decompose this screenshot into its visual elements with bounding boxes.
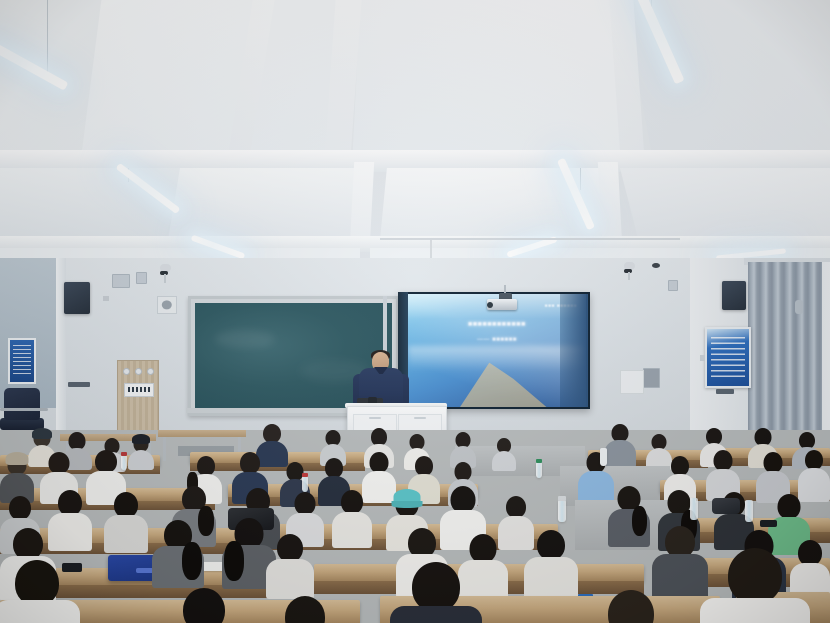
screen-shadow-band: [560, 294, 588, 407]
lecture-hall-photo: ■■■ ■■■■■■ ■■■■■■■■■■■■ —— ■■■■■■: [0, 0, 830, 623]
audience-person: [608, 486, 650, 542]
wall-slot: [68, 382, 90, 387]
bottle-cap: [536, 459, 542, 463]
wall-marking: [103, 296, 109, 301]
ceiling-conduit: [380, 238, 680, 240]
audience-person: [104, 492, 148, 550]
audience-person: [706, 450, 740, 498]
ceiling-coffer: [168, 168, 368, 240]
board-slide-rail: [383, 296, 387, 358]
cap-icon: [132, 434, 150, 444]
audience-person: [0, 455, 34, 497]
electrical-panel: [643, 368, 660, 388]
dome-camera: [652, 263, 660, 268]
backpack: [712, 498, 740, 514]
cap-brim-icon: [392, 501, 423, 508]
ceiling-coffer: [620, 168, 830, 240]
control-knob[interactable]: [123, 368, 130, 375]
slide-title: ■■■■■■■■■■■■: [422, 321, 572, 328]
table-leg: [163, 437, 166, 461]
audience-person: [588, 590, 674, 623]
projector-lens-icon: [487, 302, 493, 308]
ceiling-coffer: [352, 0, 652, 166]
display-text-lines: [711, 337, 745, 379]
ceiling-coffer: [0, 168, 190, 240]
ceiling-conduit: [430, 240, 432, 260]
cap-icon: [32, 428, 52, 439]
audience-person: [450, 432, 476, 464]
light-hanger: [580, 168, 581, 190]
wall-speaker: [64, 282, 90, 314]
left-wall-panel: [0, 258, 58, 408]
wall-slot: [716, 389, 734, 394]
poster-text-lines: [13, 345, 31, 375]
water-bottle: [536, 462, 542, 478]
camera-arm: [628, 272, 630, 280]
office-chair[interactable]: [4, 388, 40, 420]
audience-person: [266, 534, 314, 592]
control-knob[interactable]: [135, 368, 142, 375]
audience-person: [128, 436, 154, 464]
ceiling: [0, 0, 830, 262]
camera-arm: [164, 274, 166, 283]
lectern-handle[interactable]: [414, 417, 426, 419]
wall-vent: [157, 296, 177, 314]
wall-box: [668, 280, 678, 291]
ceiling-beam: [350, 162, 374, 246]
wall-switch[interactable]: [700, 355, 705, 361]
smartphone: [760, 520, 777, 527]
thermos: [600, 448, 607, 466]
wall-control-panel[interactable]: [117, 360, 159, 432]
audience-person: [524, 530, 578, 594]
audience-person: [0, 560, 80, 623]
audience-person: [756, 452, 790, 500]
audience-person: [390, 562, 482, 623]
audience-person: [492, 438, 516, 466]
control-plate[interactable]: [124, 383, 154, 397]
lectern-handle[interactable]: [369, 417, 381, 419]
cap-icon: [6, 452, 29, 465]
ceiling-beam: [598, 162, 622, 246]
audience-person: [152, 520, 204, 580]
audience-person: [268, 596, 342, 623]
water-bottle: [121, 455, 127, 470]
control-switches[interactable]: [128, 387, 150, 392]
slide-subtitle: —— ■■■■■■: [433, 337, 561, 343]
water-bottle: [690, 498, 698, 520]
curtain-tieback: [795, 300, 803, 314]
wall-box: [136, 272, 147, 284]
audience-person: [332, 490, 372, 544]
chair-armrest: [0, 408, 48, 411]
front-table: [158, 430, 246, 437]
water-bottle: [745, 500, 753, 522]
audience-person: [798, 450, 830, 500]
water-bottle: [558, 500, 566, 522]
bottle-cap: [558, 496, 566, 501]
wall-poster: [8, 338, 36, 384]
control-knob[interactable]: [147, 368, 154, 375]
wall-speaker: [722, 281, 746, 310]
bottle-cap: [302, 473, 308, 477]
bottle-cap: [121, 452, 127, 456]
light-hanger: [47, 0, 48, 80]
wall-box: [112, 274, 130, 288]
audience-person: [164, 588, 244, 623]
chalk-smudge: [215, 330, 275, 348]
water-bottle: [302, 476, 308, 492]
wall-plate: [620, 370, 644, 394]
audience-person: [700, 548, 810, 623]
wall-information-display: [705, 327, 751, 388]
